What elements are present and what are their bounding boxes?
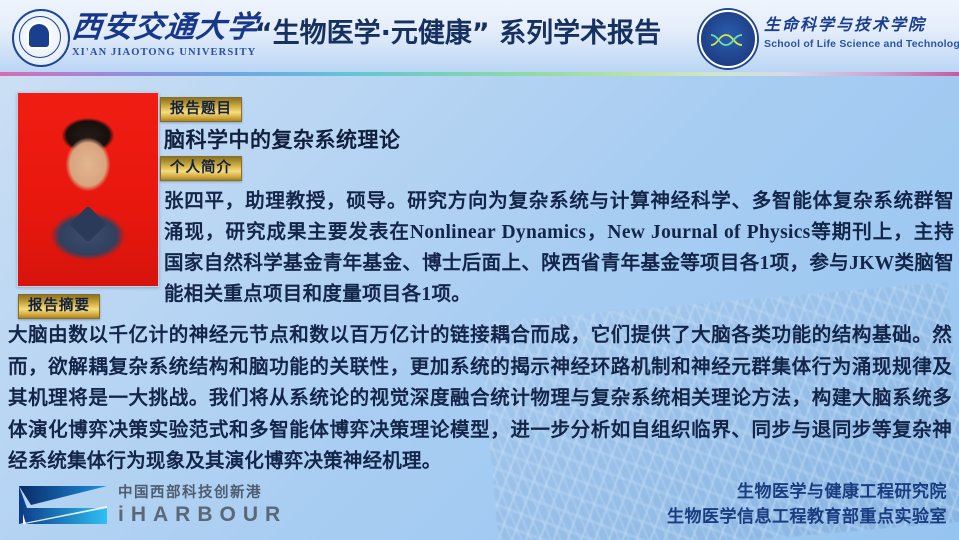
host-organization-line-2: 生物医学信息工程教育部重点实验室 xyxy=(667,505,947,530)
series-title: “生物医学·元健康” 系列学术报告 xyxy=(243,14,673,54)
school-name-en: School of Life Science and Technology xyxy=(764,38,959,50)
poster-header: 西安交通大学 XI'AN JIAOTONG UNIVERSITY “生物医学·元… xyxy=(0,0,959,72)
speaker-biography-text: 张四平，助理教授，硕导。研究方向为复杂系统与计算神经科学、多智能体复杂系统群智涌… xyxy=(164,186,954,310)
school-name-block: 生命科学与技术学院 School of Life Science and Tec… xyxy=(764,16,959,50)
lecture-poster-slide: 西安交通大学 XI'AN JIAOTONG UNIVERSITY “生物医学·元… xyxy=(0,0,959,540)
host-organization-line-1: 生物医学与健康工程研究院 xyxy=(667,480,947,505)
life-science-seal-icon xyxy=(699,10,757,68)
badge-abstract-label: 报告摘要 xyxy=(18,294,100,319)
xjtu-seal-icon xyxy=(12,9,70,67)
badge-topic-label: 报告题目 xyxy=(160,97,242,122)
talk-title: 脑科学中的复杂系统理论 xyxy=(164,124,401,154)
iharbour-name-en: iHARBOUR xyxy=(118,503,287,527)
talk-abstract-text: 大脑由数以千亿计的神经元节点和数以百万亿计的链接耦合而成，它们提供了大脑各类功能… xyxy=(8,320,952,478)
iharbour-text-block: 中国西部科技创新港 iHARBOUR xyxy=(118,484,287,527)
poster-footer: 中国西部科技创新港 iHARBOUR 生物医学与健康工程研究院 生物医学信息工程… xyxy=(0,472,959,540)
poster-body: 报告题目 脑科学中的复杂系统理论 个人简介 张四平，助理教授，硕导。研究方向为复… xyxy=(0,76,959,472)
iharbour-logo-icon xyxy=(17,484,109,526)
school-name-cn: 生命科学与技术学院 xyxy=(764,16,959,36)
speaker-portrait xyxy=(17,92,159,287)
university-name-block: 西安交通大学 XI'AN JIAOTONG UNIVERSITY xyxy=(72,10,237,58)
iharbour-name-cn: 中国西部科技创新港 xyxy=(118,484,287,502)
university-name-cn: 西安交通大学 xyxy=(70,10,239,46)
university-name-en: XI'AN JIAOTONG UNIVERSITY xyxy=(72,47,237,58)
badge-biography-label: 个人简介 xyxy=(160,156,242,181)
host-organization-block: 生物医学与健康工程研究院 生物医学信息工程教育部重点实验室 xyxy=(667,480,947,530)
dna-helix-icon xyxy=(710,32,744,48)
